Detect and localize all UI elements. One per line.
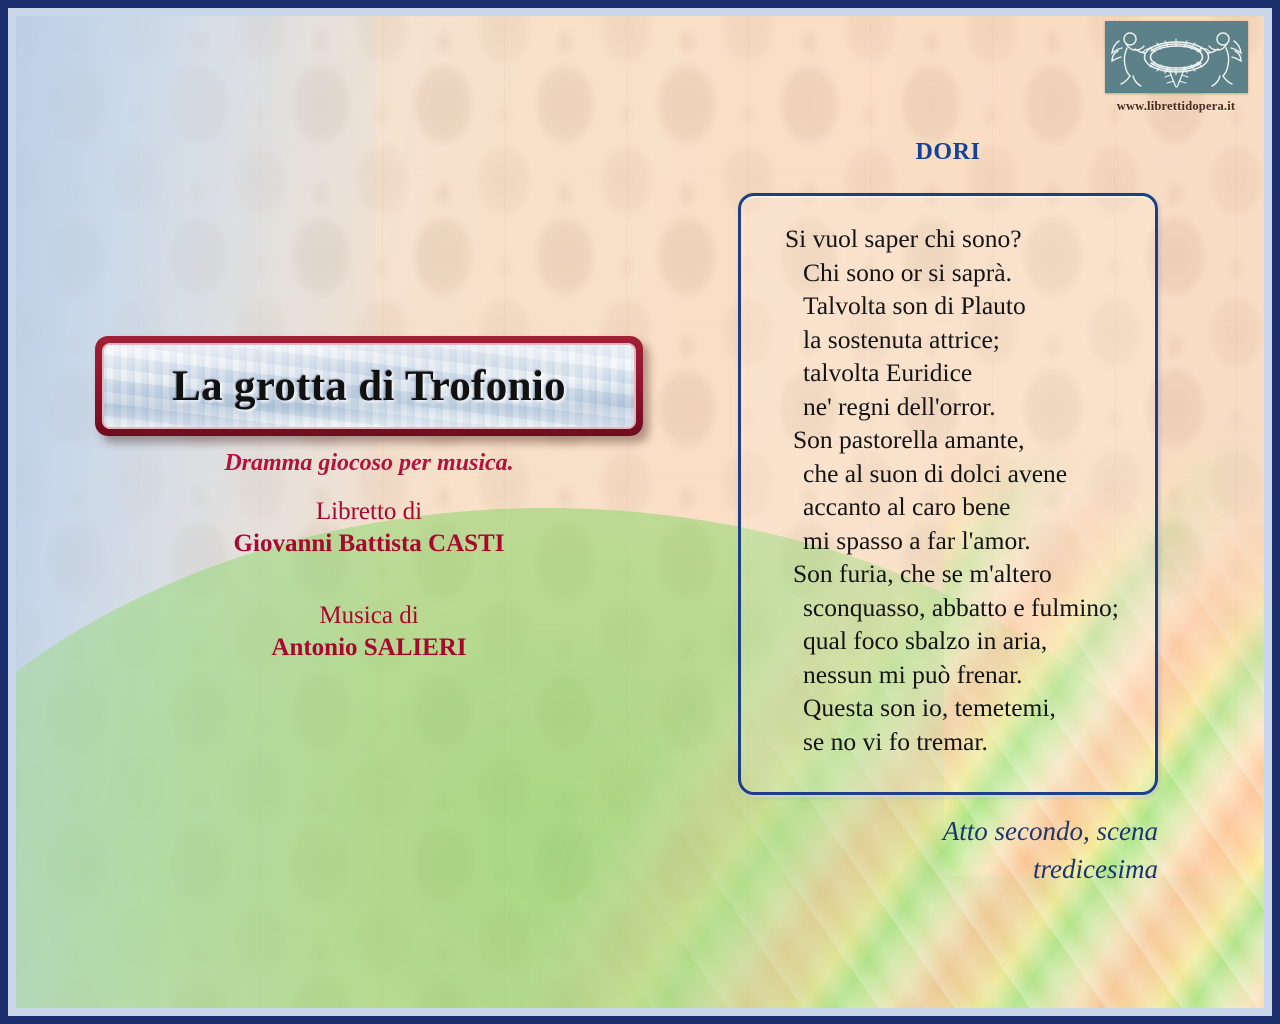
libretto-line: accanto al caro bene	[803, 490, 1155, 524]
libretto-line: Son pastorella amante,	[793, 423, 1155, 457]
character-name-heading: DORI	[738, 139, 1158, 166]
libretto-line: mi spasso a far l'amor.	[803, 524, 1155, 558]
libretto-line: ne' regni dell'orror.	[803, 390, 1155, 424]
libretto-line: che al suon di dolci avene	[803, 457, 1155, 491]
libretto-line: talvolta Euridice	[803, 356, 1155, 390]
libretto-line: Chi sono or si saprà.	[803, 256, 1155, 290]
libretto-excerpt-lines: Si vuol saper chi sono?Chi sono or si sa…	[741, 196, 1155, 758]
work-title-plate-inner: La grotta di Trofonio	[102, 343, 636, 429]
page-title: La grotta di Trofonio	[172, 362, 566, 411]
logo-url-text[interactable]: www.librettidopera.it	[1100, 99, 1252, 114]
credits-spacer	[95, 560, 643, 600]
wreath-cherubs-emblem-icon	[1105, 21, 1248, 93]
libretto-line: Son furia, che se m'altero	[793, 557, 1155, 591]
composer-role-label: Musica di	[95, 600, 643, 632]
site-logo[interactable]: www.librettidopera.it	[1100, 21, 1252, 135]
libretto-line: Questa son io, temetemi,	[803, 691, 1155, 725]
scene-caption-line-1: Atto secondo, scena	[800, 812, 1158, 850]
libretto-excerpt-box: Si vuol saper chi sono?Chi sono or si sa…	[738, 193, 1158, 795]
scene-caption: Atto secondo, scena tredicesima	[800, 812, 1158, 888]
libretto-line: Talvolta son di Plauto	[803, 289, 1155, 323]
librettist-role-label: Libretto di	[95, 496, 643, 528]
composer-name: Antonio SALIERI	[95, 632, 643, 664]
work-subtitle: Dramma giocoso per musica.	[95, 450, 643, 477]
libretto-line: qual foco sbalzo in aria,	[803, 624, 1155, 658]
libretto-line: se no vi fo tremar.	[803, 725, 1155, 759]
slide-root: www.librettidopera.it La grotta di Trofo…	[0, 0, 1280, 1024]
libretto-line: nessun mi può frenar.	[803, 658, 1155, 692]
work-title-plate: La grotta di Trofonio	[95, 336, 643, 436]
scene-caption-line-2: tredicesima	[800, 850, 1158, 888]
work-credits: Libretto di Giovanni Battista CASTI Musi…	[95, 496, 643, 664]
libretto-line: la sostenuta attrice;	[803, 323, 1155, 357]
libretto-line: Si vuol saper chi sono?	[785, 222, 1155, 256]
librettist-name: Giovanni Battista CASTI	[95, 528, 643, 560]
libretto-line: sconquasso, abbatto e fulmino;	[803, 591, 1155, 625]
